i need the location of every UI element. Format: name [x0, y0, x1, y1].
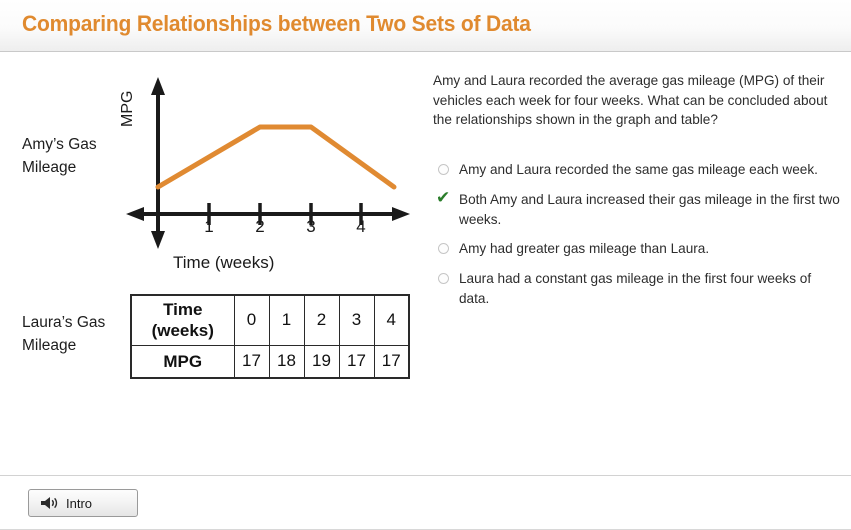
laura-data-table-wrapper: Time (weeks) 0 1 2 3 4 MPG 17 18 19 — [130, 294, 410, 379]
radio-circle-icon[interactable] — [438, 273, 449, 284]
radio-circle-icon[interactable] — [438, 243, 449, 254]
radio-circle-icon[interactable] — [438, 164, 449, 175]
x-axis-arrow-right — [392, 207, 410, 221]
answer-option-d[interactable]: Laura had a constant gas mileage in the … — [433, 269, 843, 308]
time-cell-2: 2 — [304, 295, 339, 345]
check-icon: ✔ — [436, 188, 450, 208]
x-tick-label-3: 3 — [301, 217, 321, 237]
mpg-cell-3: 17 — [339, 345, 374, 378]
radio-button-d[interactable] — [433, 269, 457, 289]
amy-data-line — [158, 127, 394, 187]
table-header-time-line2: (weeks) — [152, 321, 214, 340]
mpg-cell-2: 19 — [304, 345, 339, 378]
intro-button-label: Intro — [66, 496, 92, 511]
answer-option-d-label: Laura had a constant gas mileage in the … — [459, 269, 843, 308]
y-axis-label: MPG — [119, 91, 137, 127]
radio-button-c[interactable] — [433, 239, 457, 259]
correct-marker-b: ✔ — [433, 190, 457, 210]
time-cell-1: 1 — [269, 295, 304, 345]
answer-option-a-label: Amy and Laura recorded the same gas mile… — [459, 160, 843, 180]
answer-option-b[interactable]: ✔ Both Amy and Laura increased their gas… — [433, 190, 843, 229]
time-cell-4: 4 — [374, 295, 409, 345]
answer-option-c-label: Amy had greater gas mileage than Laura. — [459, 239, 843, 259]
table-row-time: Time (weeks) 0 1 2 3 4 — [131, 295, 409, 345]
laura-gas-mileage-label: Laura’s Gas Mileage — [22, 311, 132, 357]
table-header-mpg: MPG — [131, 345, 234, 378]
table-header-time: Time (weeks) — [131, 295, 234, 345]
footer-bar: Intro — [0, 476, 851, 530]
amy-gas-mileage-label: Amy’s Gas Mileage — [22, 133, 132, 179]
time-cell-0: 0 — [234, 295, 269, 345]
mpg-cell-4: 17 — [374, 345, 409, 378]
question-prompt: Amy and Laura recorded the average gas m… — [433, 71, 833, 130]
laura-data-table: Time (weeks) 0 1 2 3 4 MPG 17 18 19 — [130, 294, 410, 379]
mpg-cell-0: 17 — [234, 345, 269, 378]
x-axis-title: Time (weeks) — [173, 253, 274, 273]
graph-svg — [120, 71, 420, 251]
radio-button-a[interactable] — [433, 160, 457, 180]
answer-option-b-label: Both Amy and Laura increased their gas m… — [459, 190, 843, 229]
amy-line-graph: MPG 1 2 3 4 Time (weeks) — [120, 71, 420, 291]
x-tick-label-2: 2 — [250, 217, 270, 237]
page-header: Comparing Relationships between Two Sets… — [0, 0, 851, 52]
mpg-cell-1: 18 — [269, 345, 304, 378]
question-panel: Amy and Laura recorded the average gas m… — [425, 53, 851, 473]
answer-option-c[interactable]: Amy had greater gas mileage than Laura. — [433, 239, 843, 259]
x-tick-label-4: 4 — [351, 217, 371, 237]
table-row-mpg: MPG 17 18 19 17 17 — [131, 345, 409, 378]
table-header-time-line1: Time — [163, 300, 202, 319]
answer-option-a[interactable]: Amy and Laura recorded the same gas mile… — [433, 160, 843, 180]
lesson-page: Comparing Relationships between Two Sets… — [0, 0, 851, 530]
y-axis-arrow-up — [151, 77, 165, 95]
x-axis-arrow-left — [126, 207, 144, 221]
left-content-panel: Amy’s Gas Mileage Laura’s Gas Mileage — [0, 53, 425, 473]
time-cell-3: 3 — [339, 295, 374, 345]
y-axis-arrow-down — [151, 231, 165, 249]
answer-options-list: Amy and Laura recorded the same gas mile… — [433, 160, 843, 318]
page-title: Comparing Relationships between Two Sets… — [22, 11, 531, 37]
intro-button[interactable]: Intro — [28, 489, 138, 517]
x-tick-label-1: 1 — [199, 217, 219, 237]
speaker-icon — [39, 495, 59, 511]
